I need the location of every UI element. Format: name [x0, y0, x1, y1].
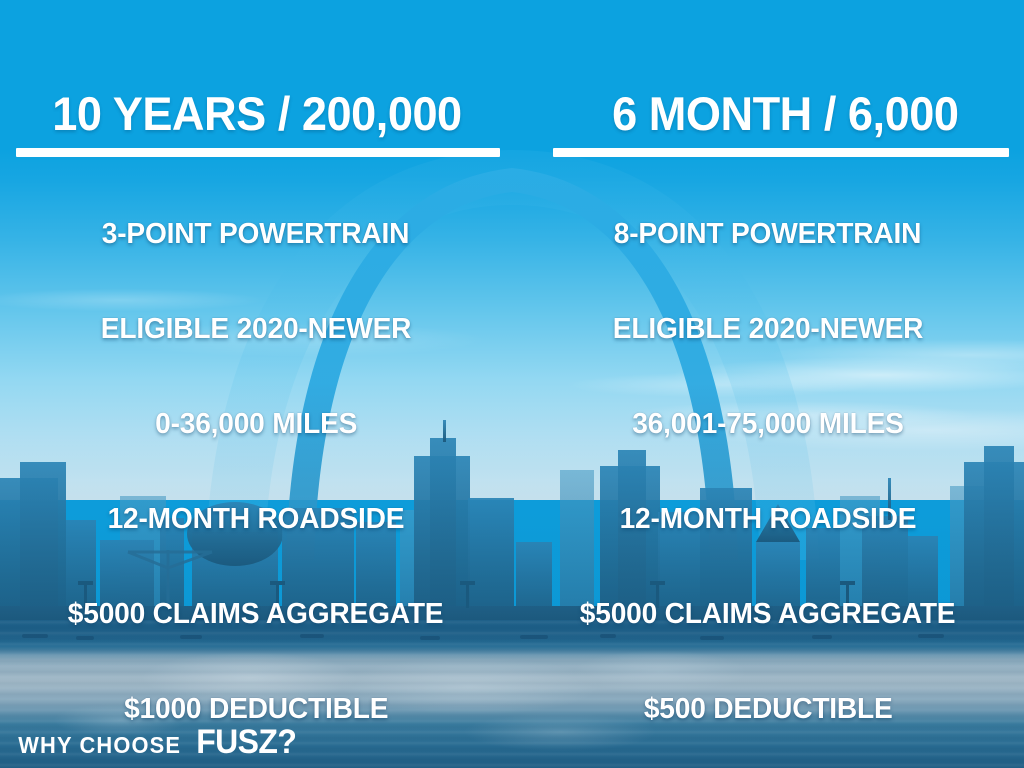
column-title-ten-year: 10 YEARS / 200,000	[10, 88, 502, 140]
column-ten-year: 10 YEARS / 200,000 3-POINT POWERTRAIN EL…	[0, 0, 512, 720]
column-title-underline-six-month	[553, 148, 1009, 157]
list-item: 12-MONTH ROADSIDE	[512, 471, 1024, 566]
list-item: 36,001-75,000 MILES	[512, 376, 1024, 471]
list-item: 0-36,000 MILES	[0, 376, 512, 471]
feature-list-six-month: 8-POINT POWERTRAIN ELIGIBLE 2020-NEWER 3…	[512, 186, 1024, 756]
feature-mileage: 36,001-75,000 MILES	[632, 408, 904, 440]
list-item: ELIGIBLE 2020-NEWER	[512, 281, 1024, 376]
column-six-month: 6 MONTH / 6,000 8-POINT POWERTRAIN ELIGI…	[512, 0, 1024, 720]
logo-why-choose-text: WHY CHOOSE	[18, 732, 181, 759]
feature-eligibility: ELIGIBLE 2020-NEWER	[101, 313, 412, 345]
list-item: $500 DEDUCTIBLE	[512, 661, 1024, 756]
content-layer: 10 YEARS / 200,000 3-POINT POWERTRAIN EL…	[0, 0, 1024, 768]
column-header-six-month: 6 MONTH / 6,000	[512, 88, 1024, 157]
feature-claims-aggregate: $5000 CLAIMS AGGREGATE	[68, 598, 444, 630]
column-title-six-month: 6 MONTH / 6,000	[522, 88, 1014, 140]
feature-powertrain: 3-POINT POWERTRAIN	[102, 218, 410, 250]
column-title-underline-ten-year	[16, 148, 500, 157]
list-item: $5000 CLAIMS AGGREGATE	[512, 566, 1024, 661]
column-header-ten-year: 10 YEARS / 200,000	[0, 88, 512, 157]
feature-powertrain: 8-POINT POWERTRAIN	[614, 218, 922, 250]
feature-claims-aggregate: $5000 CLAIMS AGGREGATE	[580, 598, 956, 630]
warranty-comparison-graphic: 10 YEARS / 200,000 3-POINT POWERTRAIN EL…	[0, 0, 1024, 768]
feature-roadside: 12-MONTH ROADSIDE	[620, 503, 917, 535]
feature-roadside: 12-MONTH ROADSIDE	[108, 503, 405, 535]
list-item: 3-POINT POWERTRAIN	[0, 186, 512, 281]
logo-brand-text: FUSZ?	[197, 723, 297, 762]
feature-eligibility: ELIGIBLE 2020-NEWER	[613, 313, 924, 345]
feature-deductible: $1000 DEDUCTIBLE	[124, 693, 388, 725]
fusz-logo-lockup: WHY CHOOSE FUSZ?	[14, 723, 300, 762]
feature-mileage: 0-36,000 MILES	[155, 408, 357, 440]
feature-deductible: $500 DEDUCTIBLE	[644, 693, 893, 725]
list-item: 12-MONTH ROADSIDE	[0, 471, 512, 566]
feature-list-ten-year: 3-POINT POWERTRAIN ELIGIBLE 2020-NEWER 0…	[0, 186, 512, 756]
list-item: ELIGIBLE 2020-NEWER	[0, 281, 512, 376]
comparison-columns: 10 YEARS / 200,000 3-POINT POWERTRAIN EL…	[0, 0, 1024, 720]
list-item: $5000 CLAIMS AGGREGATE	[0, 566, 512, 661]
list-item: 8-POINT POWERTRAIN	[512, 186, 1024, 281]
